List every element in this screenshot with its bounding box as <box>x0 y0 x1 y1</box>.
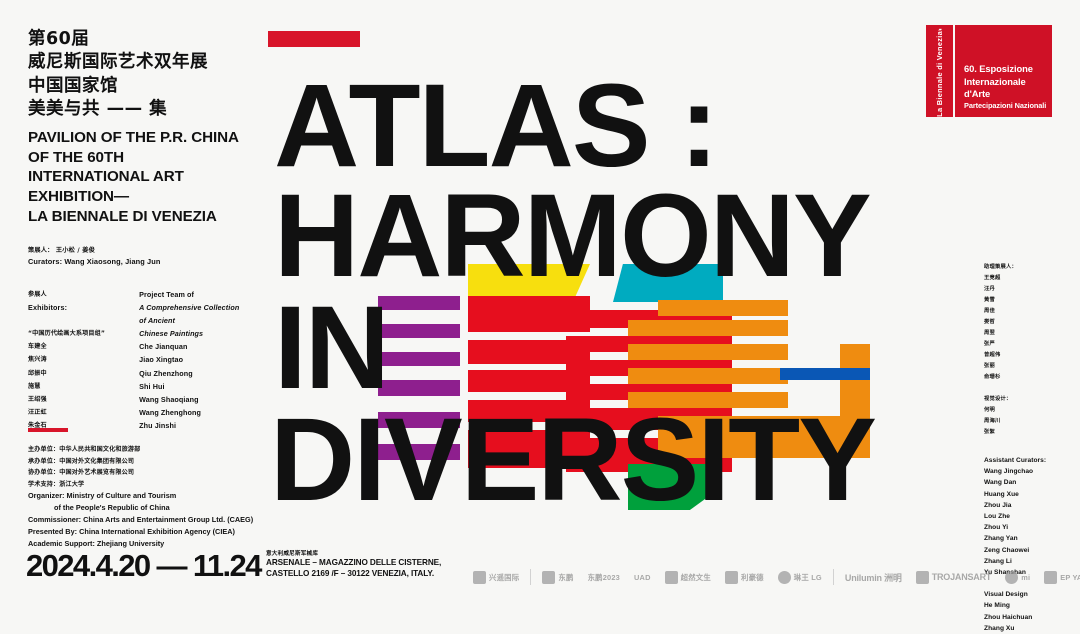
assistant-curator-en-6: Zhou Yi <box>984 522 1076 533</box>
exhibitors-label-en: Exhibitors: <box>28 301 117 314</box>
assistant-curator-cn-3: 黄雪 <box>984 295 1076 306</box>
assistant-curator-cn-1: 王竞超 <box>984 273 1076 284</box>
assistant-curator-en-1: Wang Jingchao <box>984 466 1076 477</box>
assistant-curator-cn-5: 娄哲 <box>984 317 1076 328</box>
sponsor-mark-icon <box>665 571 678 584</box>
exhibitors-column-chinese: 参展人 Exhibitors: “中国历代绘画大系项目组” 车建全 焦兴涛 邱振… <box>28 288 117 432</box>
biennale-vertical-text: La Biennale di Venezia <box>935 31 944 117</box>
glyph-block-orange-25 <box>840 344 870 418</box>
sponsor-logo-mi: mi <box>998 566 1037 588</box>
red-divider-tick <box>28 428 68 432</box>
sponsor-label: TROJANSART <box>932 572 992 582</box>
sponsor-mark-icon <box>1044 571 1057 584</box>
project-team-en-4: Chinese Paintings <box>139 327 258 340</box>
exhibitor-name-en-5: Wang Shaoqiang <box>139 393 258 406</box>
headline-line-1: ATLAS : <box>274 58 717 194</box>
visual-designer-en-2: Zhou Haichuan <box>984 612 1076 623</box>
sponsor-logo-sponsor-02: 东鹏 <box>535 566 580 588</box>
assistant-curator-en-5: Lou Zhe <box>984 511 1076 522</box>
assistant-curator-cn-10: 俞珊杉 <box>984 372 1076 383</box>
glyph-block-purple-2 <box>378 296 460 310</box>
curators-label-cn: 策展人： 王小松 / 姜俊 <box>28 246 268 255</box>
assistant-curator-cn-9: 张丽 <box>984 361 1076 372</box>
assistant-curator-cn-2: 汪丹 <box>984 284 1076 295</box>
assistant-curator-cn-7: 张严 <box>984 339 1076 350</box>
biennale-main-text: 60. Esposizione Internazionale d'Arte <box>964 63 1033 101</box>
exhibitors-label-cn: 参展人 <box>28 288 117 301</box>
sponsor-logo-dongpeng-2023: 东鹏2023 <box>581 566 627 588</box>
exhibitor-name-cn-4: 施慧 <box>28 380 117 393</box>
visual-designer-en-1: He Ming <box>984 600 1076 611</box>
venue-cn: 意大利威尼斯军械库 <box>266 550 481 558</box>
exhibitor-name-cn-1: 车建全 <box>28 340 117 353</box>
glyph-block-orange-19 <box>658 300 788 316</box>
assistant-curators-label-cn: 助理策展人： <box>984 262 1076 273</box>
glyph-block-purple-3 <box>378 324 460 338</box>
sponsor-logo-linwang-lg: 琳王 LG <box>771 566 829 588</box>
sponsor-label: 利豪德 <box>741 572 764 583</box>
title-chinese: 第60届 威尼斯国际艺术双年展 中国国家馆 美美与共 —— 集 <box>28 28 263 121</box>
assistant-curator-en-7: Zhang Yan <box>984 533 1076 544</box>
red-accent-bar <box>268 31 360 47</box>
assistant-curator-cn-4: 周佳 <box>984 306 1076 317</box>
visual-designer-en-3: Zhang Xu <box>984 623 1076 634</box>
biennale-main-line-2: Internazionale <box>964 76 1033 89</box>
sponsor-mark-icon <box>542 571 555 584</box>
exhibitor-name-cn-5: 王绍强 <box>28 393 117 406</box>
glyph-block-orange-20 <box>628 320 788 336</box>
assistant-curator-cn-6: 周翌 <box>984 328 1076 339</box>
sponsor-mark-icon <box>778 571 791 584</box>
assistant-curator-en-4: Zhou Jia <box>984 500 1076 511</box>
venue-block: 意大利威尼斯军械库 ARSENALE – MAGAZZINO DELLE CIS… <box>266 550 481 580</box>
exhibitor-name-cn-6: 汪正虹 <box>28 406 117 419</box>
assistant-curator-cn-8: 曾超伟 <box>984 350 1076 361</box>
exhibitor-name-en-7: Zhu Jinshi <box>139 419 258 432</box>
curators-block: 策展人： 王小松 / 姜俊 Curators: Wang Xiaosong, J… <box>28 246 268 268</box>
organizer-en-4: Presented By: China International Exhibi… <box>28 526 278 538</box>
glyph-block-orange-21 <box>628 344 788 360</box>
exhibitor-name-cn-3: 邱振中 <box>28 367 117 380</box>
glyph-block-blue-26 <box>780 368 870 380</box>
title-cn-line-1: 第60届 <box>28 28 263 51</box>
project-team-en-1: Project Team of <box>139 288 258 301</box>
organizer-cn-3: 协办单位：中国对外艺术展览有限公司 <box>28 467 278 479</box>
organizer-en-3: Commissioner: China Arts and Entertainme… <box>28 514 278 526</box>
credits-gap-1 <box>984 383 1076 394</box>
title-en-line-4: EXHIBITION— <box>28 187 263 207</box>
venue-en-line-2: CASTELLO 2169 /F – 30122 VENEZIA, ITALY. <box>266 569 481 580</box>
glyph-block-purple-5 <box>378 380 460 396</box>
title-en-line-3: INTERNATIONAL ART <box>28 167 263 187</box>
sponsor-logo-strip: 兴遥国际东鹏东鹏2023UAD超然文生利豪德琳王 LGUnilumin 洲明TR… <box>466 560 1072 594</box>
sponsor-logo-ep-yaying: EP YAYING <box>1037 566 1080 588</box>
glyph-block-orange-22 <box>628 368 788 384</box>
sponsor-label: 超然文生 <box>681 572 711 583</box>
glyph-block-teal-1 <box>613 264 723 302</box>
organizer-en-1: Organizer: Ministry of Culture and Touri… <box>28 490 278 502</box>
exhibitors-block: 参展人 Exhibitors: “中国历代绘画大系项目组” 车建全 焦兴涛 邱振… <box>28 288 258 432</box>
sponsor-label: UAD <box>634 573 651 582</box>
assistant-curator-en-3: Huang Xue <box>984 489 1076 500</box>
sponsor-label: mi <box>1021 573 1030 582</box>
biennale-logo-spine: La Biennale di Venezia <box>926 25 953 117</box>
sponsor-label: 东鹏 <box>558 572 573 583</box>
glyph-block-orange-24 <box>658 416 870 458</box>
title-cn-line-4: 美美与共 —— 集 <box>28 98 263 121</box>
exhibitors-column-english: Project Team of A Comprehensive Collecti… <box>139 288 258 432</box>
sponsor-mark-icon <box>916 571 929 584</box>
venue-en-line-1: ARSENALE – MAGAZZINO DELLE CISTERNE, <box>266 558 481 569</box>
sponsor-logo-uad: UAD <box>627 566 658 588</box>
sponsor-mark-icon <box>1005 571 1018 584</box>
exhibitors-spacer <box>28 314 117 327</box>
biennale-subtitle: Partecipazioni Nazionali <box>964 101 1046 110</box>
sponsor-logo-chaosheng: 超然文生 <box>658 566 718 588</box>
title-en-line-5: LA BIENNALE DI VENEZIA <box>28 207 263 227</box>
visual-design-label-cn: 视觉设计： <box>984 394 1076 405</box>
sponsor-divider <box>530 569 531 585</box>
project-team-en-3: of Ancient <box>139 314 258 327</box>
project-team-en-2: A Comprehensive Collection <box>139 301 258 314</box>
sponsor-mark-icon <box>725 571 738 584</box>
sponsor-divider <box>833 569 834 585</box>
biennale-logo: La Biennale di Venezia 60. Esposizione I… <box>926 25 1052 117</box>
glyph-block-purple-6 <box>378 412 460 428</box>
title-english: PAVILION OF THE P.R. CHINA OF THE 60TH I… <box>28 128 263 226</box>
visual-designer-cn-2: 周海川 <box>984 416 1076 427</box>
sponsor-label: Unilumin 洲明 <box>845 571 902 584</box>
sponsor-label: 琳王 LG <box>794 572 822 583</box>
organizer-cn-2: 承办单位：中国对外文化集团有限公司 <box>28 456 278 468</box>
sponsor-logo-unilumin: Unilumin 洲明 <box>838 566 909 588</box>
glyph-block-purple-4 <box>378 352 460 366</box>
title-en-line-1: PAVILION OF THE P.R. CHINA <box>28 128 263 148</box>
biennale-main-line-1: 60. Esposizione <box>964 63 1033 76</box>
sponsor-logo-liyoude: 利豪德 <box>718 566 771 588</box>
project-team-cn: “中国历代绘画大系项目组” <box>28 327 117 340</box>
title-block: 第60届 威尼斯国际艺术双年展 中国国家馆 美美与共 —— 集 PAVILION… <box>28 28 263 226</box>
poster-canvas: 第60届 威尼斯国际艺术双年展 中国国家馆 美美与共 —— 集 PAVILION… <box>0 0 1080 607</box>
title-en-line-2: OF THE 60TH <box>28 148 263 168</box>
sponsor-mark-icon <box>473 571 486 584</box>
color-glyph-artwork <box>370 258 950 518</box>
assistant-curators-label-en: Assistant Curators: <box>984 455 1076 466</box>
credits-gap-2 <box>984 438 1076 455</box>
title-cn-line-3: 中国国家馆 <box>28 75 263 98</box>
exhibitor-name-en-4: Shi Hui <box>139 380 258 393</box>
exhibitor-name-en-3: Qiu Zhenzhong <box>139 367 258 380</box>
sponsor-label: EP YAYING <box>1060 573 1080 582</box>
curators-label-en: Curators: Wang Xiaosong, Jiang Jun <box>28 256 268 267</box>
exhibitor-name-cn-2: 焦兴涛 <box>28 353 117 366</box>
sponsor-logo-xingyao-international: 兴遥国际 <box>466 566 526 588</box>
organizers-block: 主办单位：中华人民共和国文化和旅游部 承办单位：中国对外文化集团有限公司 协办单… <box>28 444 278 550</box>
exhibitor-name-en-6: Wang Zhenghong <box>139 406 258 419</box>
visual-designer-cn-1: 何明 <box>984 405 1076 416</box>
biennale-main-line-3: d'Arte <box>964 88 1033 101</box>
title-cn-line-2: 威尼斯国际艺术双年展 <box>28 51 263 74</box>
exhibitor-name-en-2: Jiao Xingtao <box>139 353 258 366</box>
sponsor-label: 东鹏2023 <box>588 572 620 583</box>
exhibitor-name-en-1: Che Jianquan <box>139 340 258 353</box>
sponsor-label: 兴遥国际 <box>489 572 519 583</box>
organizer-cn-1: 主办单位：中华人民共和国文化和旅游部 <box>28 444 278 456</box>
organizer-en-2: of the People's Republic of China <box>28 502 278 514</box>
visual-designer-cn-3: 张絮 <box>984 427 1076 438</box>
sponsor-logo-trojansart: TROJANSART <box>909 566 999 588</box>
biennale-logo-panel: 60. Esposizione Internazionale d'Arte Pa… <box>955 25 1052 117</box>
glyph-block-purple-7 <box>378 444 460 460</box>
glyph-block-orange-23 <box>628 392 788 408</box>
organizer-cn-4: 学术支持：浙江大学 <box>28 479 278 491</box>
assistant-curator-en-8: Zeng Chaowei <box>984 545 1076 556</box>
assistant-curator-en-2: Wang Dan <box>984 477 1076 488</box>
exhibition-dates: 2024.4.20 — 11.24 <box>26 548 261 584</box>
glyph-block-green-27 <box>628 464 714 510</box>
